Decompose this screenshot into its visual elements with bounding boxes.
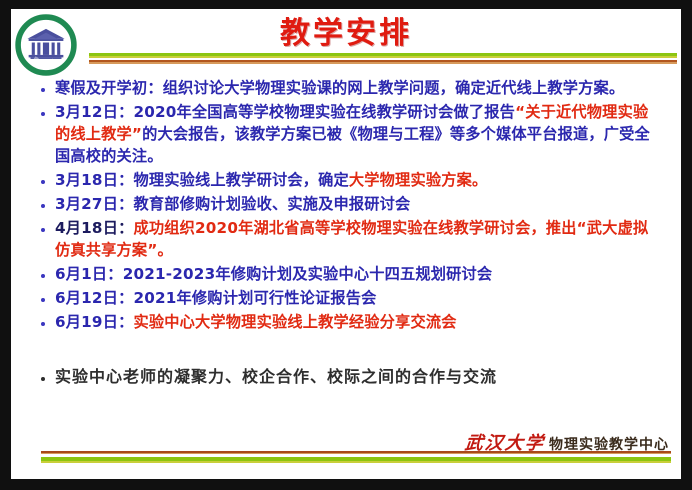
list-item: 3月12日：2020年全国高等学校物理实验在线教学研讨会做了报告“关于近代物理实… (11, 101, 681, 167)
header-divider (89, 53, 677, 65)
footer-rule-tan (41, 453, 671, 454)
header-rule-tan (89, 62, 677, 64)
header-rule-olive (89, 56, 677, 58)
text-run-1: 实验中心大学物理实验线上教学经验分享交流会 (133, 313, 456, 331)
bullet-2-text: 3月12日：2020年全国高等学校物理实验在线教学研讨会做了报告“关于近代物理实… (55, 101, 657, 167)
bullet-6-text: 6月1日：2021-2023年修购计划及实验中心十四五规划研讨会 (55, 263, 657, 285)
bullet-dot-icon (41, 101, 55, 117)
footer-divider (41, 451, 671, 463)
list-item: 3月18日：物理实验线上教学研讨会，确定大学物理实验方案。 (11, 169, 681, 191)
list-item: 6月1日：2021-2023年修购计划及实验中心十四五规划研讨会 (11, 263, 681, 285)
bullet-4-text: 3月27日：教育部修购计划验收、实施及申报研讨会 (55, 193, 657, 215)
text-run-1: 成功组织2020年湖北省高等学校物理实验在线教学研讨会，推出“武大虚拟仿真共享方… (55, 219, 648, 259)
slide-header: WUHAN UNIVERSITY 武汉大学 教学安排 (11, 9, 681, 71)
list-item: 6月19日：实验中心大学物理实验线上教学经验分享交流会 (11, 311, 681, 333)
footer-brand: 武汉大学 物理实验教学中心 (465, 429, 669, 451)
text-run-0: 3月12日：2020年全国高等学校物理实验在线教学研讨会做了报告 (55, 103, 515, 121)
text-run-1: 大学物理实验方案。 (349, 171, 488, 189)
slide-frame: WUHAN UNIVERSITY 武汉大学 教学安排 寒假 (0, 0, 692, 490)
summary-item: 实验中心老师的凝聚力、校企合作、校际之间的合作与交流 (11, 365, 681, 388)
slide-footer: 武汉大学 物理实验教学中心 (11, 429, 681, 471)
text-run-0: 3月27日：教育部修购计划验收、实施及申报研讨会 (55, 195, 410, 213)
footer-rule-olive (41, 461, 671, 463)
bullet-8-text: 6月19日：实验中心大学物理实验线上教学经验分享交流会 (55, 311, 657, 333)
list-item: 4月18日：成功组织2020年湖北省高等学校物理实验在线教学研讨会，推出“武大虚… (11, 217, 681, 261)
bullet-5-text: 4月18日：成功组织2020年湖北省高等学校物理实验在线教学研讨会，推出“武大虚… (55, 217, 657, 261)
bullet-dot-icon (41, 169, 55, 185)
bullet-dot-icon (41, 193, 55, 209)
bullet-1-text: 寒假及开学初：组织讨论大学物理实验课的网上教学问题，确定近代线上教学方案。 (55, 77, 657, 99)
summary-text: 实验中心老师的凝聚力、校企合作、校际之间的合作与交流 (55, 365, 657, 388)
bullet-dot-icon (41, 217, 55, 233)
text-run-0: 6月19日： (55, 313, 133, 331)
slide-canvas: WUHAN UNIVERSITY 武汉大学 教学安排 寒假 (11, 9, 681, 479)
bullet-dot-icon (41, 287, 55, 303)
text-run-0: 寒假及开学初：组织讨论大学物理实验课的网上教学问题，确定近代线上教学方案。 (55, 79, 624, 97)
bullet-list: 寒假及开学初：组织讨论大学物理实验课的网上教学问题，确定近代线上教学方案。 3月… (11, 77, 681, 437)
list-item: 3月27日：教育部修购计划验收、实施及申报研讨会 (11, 193, 681, 215)
bullet-dot-icon (41, 77, 55, 93)
list-item: 寒假及开学初：组织讨论大学物理实验课的网上教学问题，确定近代线上教学方案。 (11, 77, 681, 99)
bullet-7-text: 6月12日：2021年修购计划可行性论证报告会 (55, 287, 657, 309)
list-item: 6月12日：2021年修购计划可行性论证报告会 (11, 287, 681, 309)
bullet-3-text: 3月18日：物理实验线上教学研讨会，确定大学物理实验方案。 (55, 169, 657, 191)
bullet-dot-icon (41, 311, 55, 327)
page-title: 教学安排 (11, 16, 681, 52)
text-run-0: 4月18日： (55, 219, 133, 237)
text-run-0: 6月1日：2021-2023年修购计划及实验中心十四五规划研讨会 (55, 265, 492, 283)
text-run-2: 的大会报告，该教学方案已被《物理与工程》等多个媒体平台报道，广受全国高校的关注。 (55, 125, 650, 165)
text-run-0: 3月18日：物理实验线上教学研讨会，确定 (55, 171, 349, 189)
list-spacer (11, 335, 681, 351)
text-run-0: 6月12日：2021年修购计划可行性论证报告会 (55, 289, 377, 307)
bullet-dot-icon (41, 263, 55, 279)
bullet-dot-icon (41, 365, 55, 382)
